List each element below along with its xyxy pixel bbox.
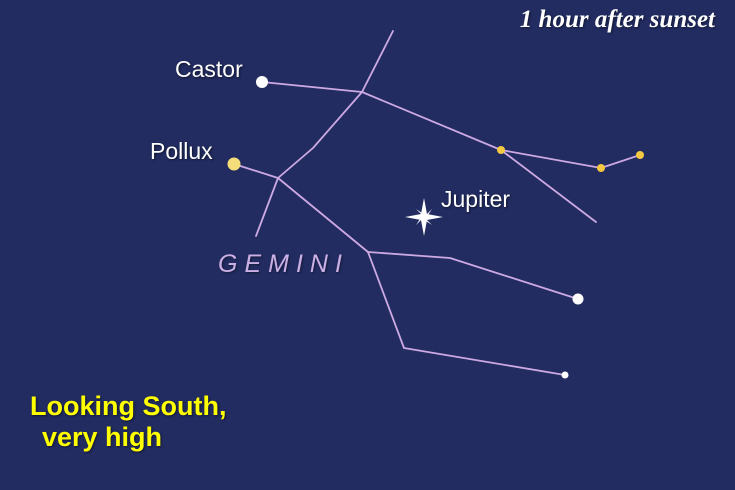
- star-points: [228, 76, 645, 379]
- constellation-line: [362, 92, 501, 150]
- constellation-line: [368, 252, 565, 375]
- constellation-line: [501, 150, 601, 168]
- constellation-line: [278, 92, 362, 178]
- constellation-line: [362, 31, 393, 92]
- star-marker: [636, 151, 644, 159]
- constellation-line: [601, 155, 640, 168]
- constellation-lines: [234, 31, 640, 375]
- constellation-line: [501, 150, 596, 222]
- planet-marker-jupiter: [405, 198, 443, 236]
- star-marker: [256, 76, 268, 88]
- constellation-line: [262, 82, 362, 92]
- constellation-line: [368, 252, 578, 299]
- constellation-line: [256, 178, 278, 236]
- star-chart: 1 hour after sunset Castor Pollux Jupite…: [0, 0, 735, 490]
- star-marker: [562, 372, 569, 379]
- constellation-canvas: [0, 0, 735, 490]
- constellation-line: [278, 178, 368, 252]
- star-marker: [228, 158, 241, 171]
- star-marker: [573, 294, 584, 305]
- constellation-line: [234, 164, 278, 178]
- star-marker: [597, 164, 605, 172]
- star-marker: [497, 146, 505, 154]
